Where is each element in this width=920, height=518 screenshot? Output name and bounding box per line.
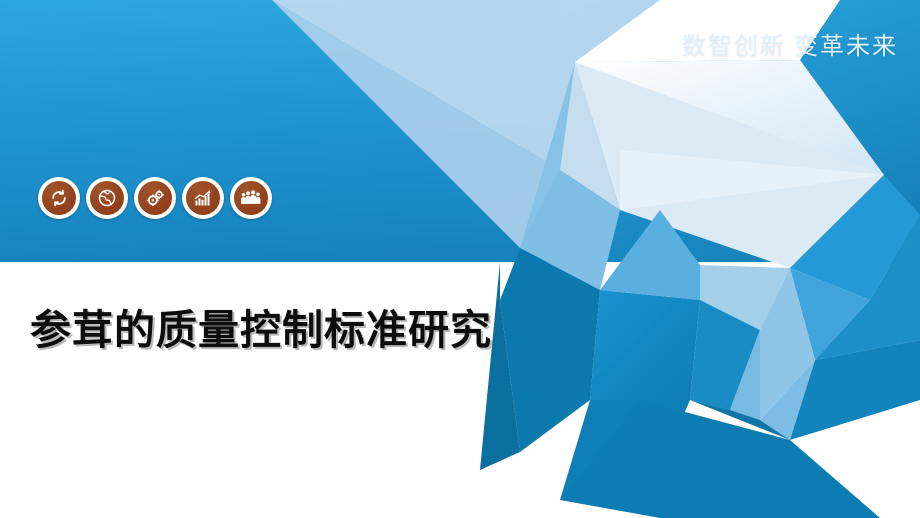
- icon-badge-gears[interactable]: [134, 177, 176, 219]
- slide-tagline: 数智创新 变革未来: [682, 26, 898, 61]
- people-group-icon: [234, 181, 268, 215]
- recycle-arrow-icon: [42, 181, 76, 215]
- icon-badge-bar-chart[interactable]: [182, 177, 224, 219]
- page-title: 参茸的质量控制标准研究: [30, 296, 492, 356]
- background-artwork: [0, 0, 920, 518]
- icon-strip: [38, 177, 272, 219]
- bar-chart-icon: [186, 181, 220, 215]
- icon-badge-people[interactable]: [230, 177, 272, 219]
- globe-icon: [90, 181, 124, 215]
- icon-badge-recycle[interactable]: [38, 177, 80, 219]
- gears-icon: [138, 181, 172, 215]
- icon-badge-globe[interactable]: [86, 177, 128, 219]
- presentation-slide: 数智创新 变革未来: [0, 0, 920, 518]
